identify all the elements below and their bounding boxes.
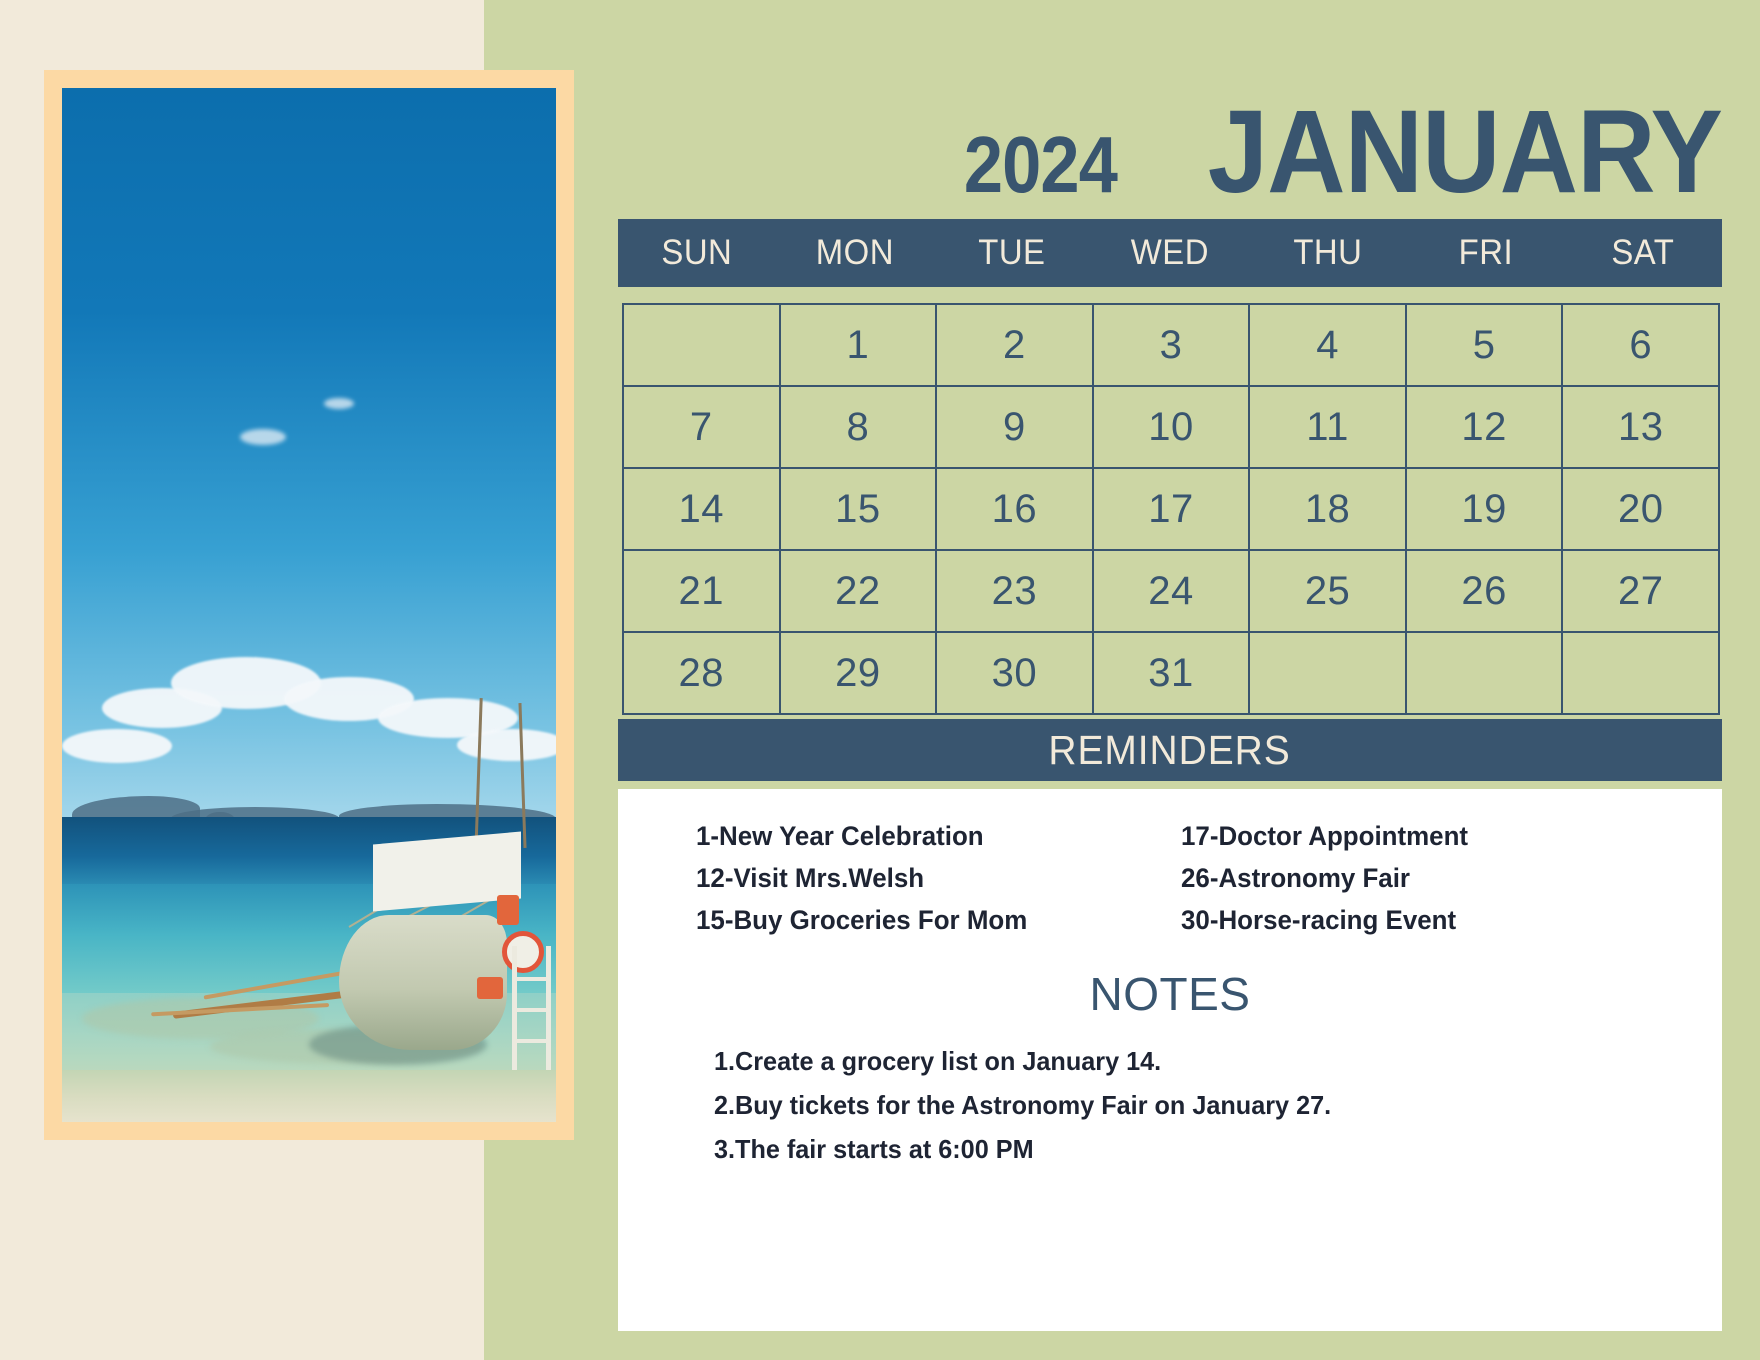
date-cell[interactable]: 11 — [1250, 387, 1407, 469]
date-cell[interactable]: 30 — [937, 633, 1094, 715]
weekday-sat: SAT — [1569, 233, 1717, 273]
date-cell[interactable]: 14 — [624, 469, 781, 551]
date-cell[interactable]: 23 — [937, 551, 1094, 633]
date-cell[interactable]: 10 — [1094, 387, 1251, 469]
photo-cloud — [62, 729, 172, 763]
date-cell[interactable]: 13 — [1563, 387, 1720, 469]
notes-list: 1.Create a grocery list on January 14. 2… — [714, 1039, 1674, 1171]
date-cell[interactable]: 2 — [937, 305, 1094, 387]
date-cell[interactable]: 31 — [1094, 633, 1251, 715]
reminders-list: 1-New Year Celebration 17-Doctor Appoint… — [696, 815, 1656, 941]
date-cell[interactable] — [624, 305, 781, 387]
notes-title: NOTES — [618, 967, 1722, 1021]
date-cell[interactable] — [1407, 633, 1564, 715]
date-cell[interactable]: 29 — [781, 633, 938, 715]
reminder-item: 17-Doctor Appointment — [1181, 815, 1637, 857]
photo-cloud — [457, 729, 556, 761]
date-cell[interactable]: 12 — [1407, 387, 1564, 469]
weekday-sun: SUN — [623, 233, 771, 273]
date-cell[interactable]: 21 — [624, 551, 781, 633]
note-item: 1.Create a grocery list on January 14. — [714, 1039, 1645, 1083]
date-cell[interactable]: 1 — [781, 305, 938, 387]
weekday-fri: FRI — [1411, 233, 1559, 273]
reminder-item: 30-Horse-racing Event — [1181, 899, 1637, 941]
photo-ladder-rung — [512, 1008, 552, 1012]
note-item: 2.Buy tickets for the Astronomy Fair on … — [714, 1083, 1645, 1127]
calendar-title: 2024 JANUARY — [618, 84, 1722, 194]
weekday-mon: MON — [780, 233, 928, 273]
date-cell[interactable]: 15 — [781, 469, 938, 551]
weekday-thu: THU — [1254, 233, 1402, 273]
photo-life-buoy — [502, 931, 544, 973]
date-cell[interactable]: 28 — [624, 633, 781, 715]
date-cell[interactable]: 16 — [937, 469, 1094, 551]
reminders-banner: REMINDERS — [618, 719, 1722, 781]
calendar-page: 2024 JANUARY SUN MON TUE WED THU FRI SAT… — [0, 0, 1760, 1360]
note-item: 3.The fair starts at 6:00 PM — [714, 1127, 1645, 1171]
reminder-item: 12-Visit Mrs.Welsh — [696, 857, 1152, 899]
date-cell[interactable]: 6 — [1563, 305, 1720, 387]
photo-ladder-rung — [512, 1039, 552, 1043]
photo-deck-gear — [477, 977, 503, 999]
date-cell[interactable]: 25 — [1250, 551, 1407, 633]
date-cell[interactable]: 9 — [937, 387, 1094, 469]
reminder-item: 1-New Year Celebration — [696, 815, 1152, 857]
date-grid: 1 2 3 4 5 6 7 8 9 10 11 12 13 14 15 16 1… — [622, 303, 1720, 715]
date-cell[interactable]: 3 — [1094, 305, 1251, 387]
date-cell[interactable]: 7 — [624, 387, 781, 469]
photo-deck-gear — [497, 895, 519, 925]
date-cell[interactable]: 5 — [1407, 305, 1564, 387]
title-month: JANUARY — [1208, 84, 1722, 220]
date-cell[interactable]: 19 — [1407, 469, 1564, 551]
photo-ladder-rung — [512, 977, 552, 981]
title-year: 2024 — [964, 119, 1117, 211]
weekday-tue: TUE — [938, 233, 1086, 273]
date-cell[interactable] — [1250, 633, 1407, 715]
reminders-notes-panel: 1-New Year Celebration 17-Doctor Appoint… — [618, 789, 1722, 1331]
beach-boat-photo — [62, 88, 556, 1122]
weekday-wed: WED — [1096, 233, 1244, 273]
date-cell[interactable] — [1563, 633, 1720, 715]
date-cell[interactable]: 4 — [1250, 305, 1407, 387]
reminders-banner-label: REMINDERS — [1049, 727, 1291, 774]
date-cell[interactable]: 8 — [781, 387, 938, 469]
photo-frame — [44, 70, 574, 1140]
photo-sand — [62, 1070, 556, 1122]
weekday-header-row: SUN MON TUE WED THU FRI SAT — [618, 219, 1722, 287]
date-cell[interactable]: 18 — [1250, 469, 1407, 551]
date-cell[interactable]: 17 — [1094, 469, 1251, 551]
date-cell[interactable]: 22 — [781, 551, 938, 633]
reminder-item: 15-Buy Groceries For Mom — [696, 899, 1152, 941]
date-cell[interactable]: 27 — [1563, 551, 1720, 633]
date-cell[interactable]: 26 — [1407, 551, 1564, 633]
date-cell[interactable]: 20 — [1563, 469, 1720, 551]
reminder-item: 26-Astronomy Fair — [1181, 857, 1637, 899]
date-cell[interactable]: 24 — [1094, 551, 1251, 633]
